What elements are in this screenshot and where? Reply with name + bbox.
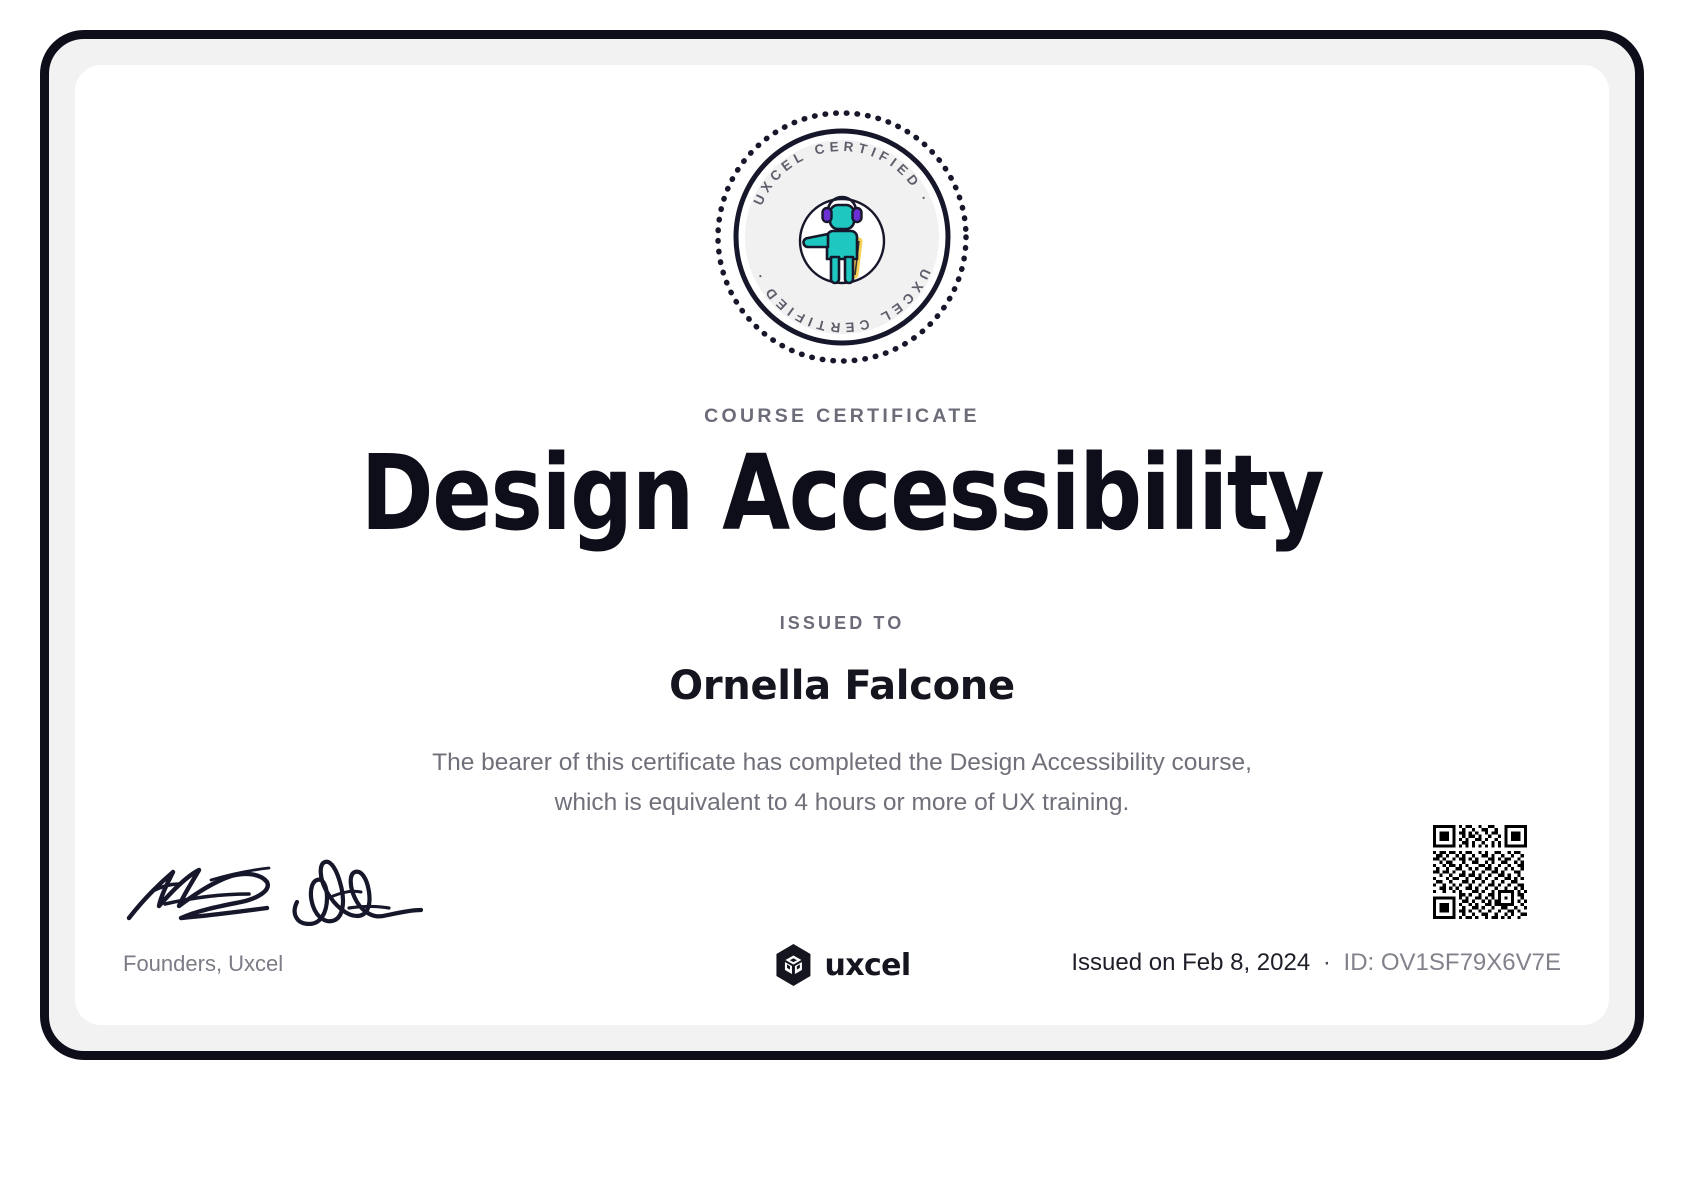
- founders-label: Founders, Uxcel: [123, 951, 283, 977]
- page-title: Design Accessibility: [121, 437, 1563, 549]
- founder-signatures: [121, 840, 451, 926]
- uxcel-wordmark: uxcel: [824, 948, 910, 983]
- description-line-2: which is equivalent to 4 hours or more o…: [392, 783, 1292, 823]
- certificate-description: The bearer of this certificate has compl…: [392, 743, 1292, 822]
- issued-on-date: Issued on Feb 8, 2024: [1071, 949, 1310, 976]
- certificate-id: ID: OV1SF79X6V7E: [1344, 949, 1561, 976]
- signature-two: [295, 862, 421, 924]
- description-line-1: The bearer of this certificate has compl…: [392, 743, 1292, 783]
- issued-to-eyebrow: ISSUED TO: [75, 613, 1609, 634]
- issue-info: Issued on Feb 8, 2024 · ID: OV1SF79X6V7E: [1071, 949, 1561, 977]
- separator-dot: ·: [1317, 949, 1337, 976]
- certificate-card: UXCEL CERTIFIED · UXCEL CERTIFIED ·: [75, 65, 1609, 1025]
- course-certificate-eyebrow: COURSE CERTIFICATE: [75, 405, 1609, 428]
- uxcel-logo: uxcel: [773, 943, 910, 987]
- recipient-name: Ornella Falcone: [75, 663, 1609, 709]
- uxcel-hexagon-icon: [773, 943, 813, 987]
- verification-qr-code[interactable]: [1433, 825, 1527, 919]
- signature-one: [129, 868, 269, 918]
- certificate-frame: UXCEL CERTIFIED · UXCEL CERTIFIED ·: [40, 30, 1644, 1060]
- uxcel-certified-seal: UXCEL CERTIFIED · UXCEL CERTIFIED ·: [712, 107, 972, 367]
